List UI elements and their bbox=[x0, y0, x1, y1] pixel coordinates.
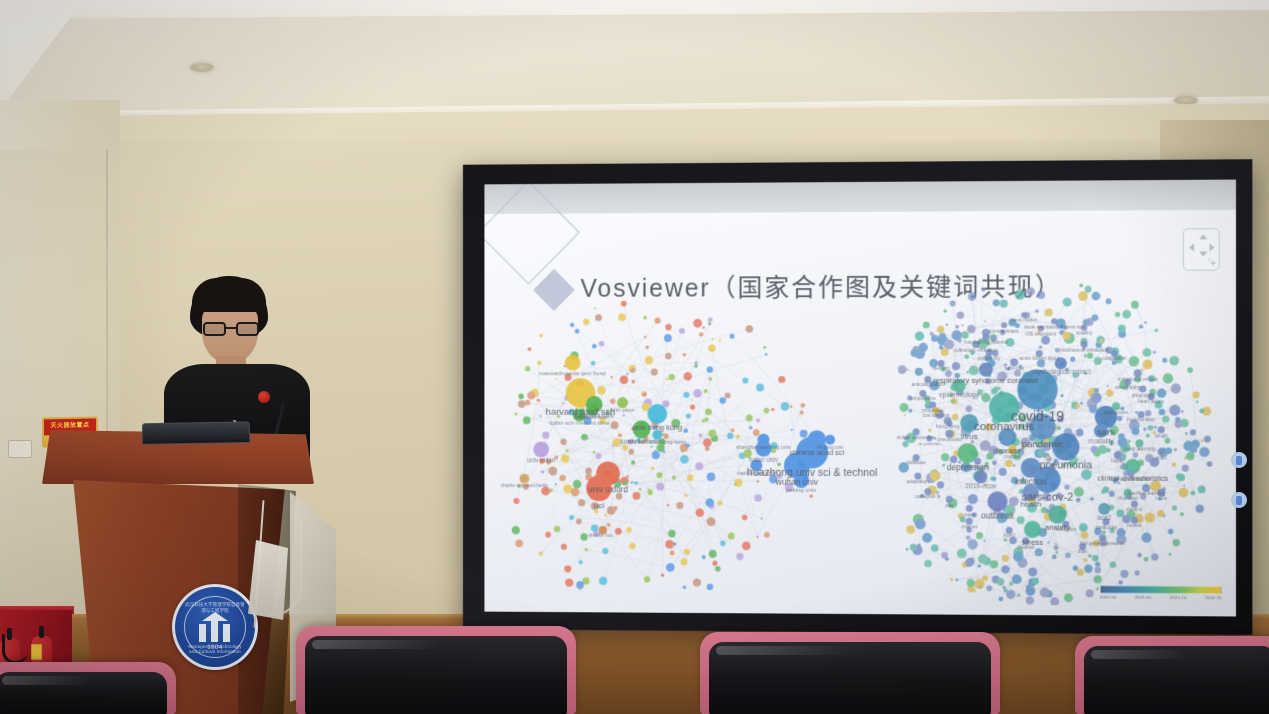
network-node[interactable] bbox=[966, 505, 973, 512]
arrow-left-icon[interactable] bbox=[1189, 243, 1194, 251]
network-node[interactable] bbox=[974, 470, 987, 483]
zoom-in-icon[interactable] bbox=[1208, 259, 1210, 261]
chair-4[interactable] bbox=[1075, 636, 1269, 714]
network-node[interactable] bbox=[1158, 448, 1165, 455]
wall-left-panel bbox=[0, 150, 108, 450]
network-node[interactable] bbox=[1023, 484, 1039, 500]
legend-gradient-bar bbox=[1100, 585, 1222, 594]
network-node[interactable] bbox=[926, 435, 932, 441]
network-node[interactable] bbox=[1114, 452, 1121, 459]
network-node[interactable] bbox=[633, 420, 651, 438]
network-node[interactable] bbox=[946, 496, 953, 503]
network-node[interactable] bbox=[586, 404, 598, 416]
presenter-hair-front bbox=[192, 278, 266, 312]
network-node[interactable] bbox=[1062, 521, 1069, 528]
network-node[interactable] bbox=[1048, 505, 1066, 523]
navigation-pad[interactable] bbox=[1183, 228, 1220, 271]
network-node[interactable] bbox=[1158, 426, 1165, 433]
network-node[interactable] bbox=[647, 404, 667, 424]
network-node[interactable] bbox=[1094, 424, 1108, 438]
country-collaboration-network: harvard med schmassachusetts gen hospcol… bbox=[512, 294, 908, 594]
network-node[interactable] bbox=[750, 459, 762, 471]
network-node[interactable] bbox=[586, 475, 612, 501]
network-node[interactable] bbox=[1124, 379, 1131, 386]
network-node[interactable] bbox=[979, 363, 993, 377]
network-node[interactable] bbox=[1038, 325, 1044, 331]
network-node[interactable] bbox=[1017, 369, 1057, 409]
wall-indicator-button-1[interactable] bbox=[1231, 452, 1247, 468]
network-node[interactable] bbox=[519, 474, 529, 484]
network-node[interactable] bbox=[1010, 358, 1018, 366]
network-node[interactable] bbox=[565, 355, 581, 371]
network-node[interactable] bbox=[1131, 517, 1138, 524]
arrow-right-icon[interactable] bbox=[1209, 243, 1214, 251]
network-node[interactable] bbox=[1051, 318, 1057, 324]
laptop[interactable] bbox=[142, 421, 251, 444]
network-node[interactable] bbox=[825, 435, 835, 445]
presentation-slide: Vosviewer（国家合作图及关键词共现） harvard med schma… bbox=[484, 210, 1236, 617]
network-node[interactable] bbox=[1099, 534, 1106, 541]
network-node[interactable] bbox=[808, 430, 826, 448]
network-node[interactable] bbox=[1124, 489, 1132, 497]
chair-1[interactable] bbox=[0, 662, 176, 714]
glasses-icon bbox=[202, 322, 260, 337]
network-node[interactable] bbox=[945, 430, 953, 438]
university-emblem: 武汉科技大学管理学院信息管理与工程学院 1984 Management Tech… bbox=[172, 584, 258, 670]
network-node[interactable] bbox=[1127, 470, 1134, 477]
network-node[interactable] bbox=[533, 442, 549, 458]
legend-tick: 2020.05 bbox=[1135, 595, 1152, 600]
arrow-down-icon[interactable] bbox=[1199, 251, 1207, 256]
network-node[interactable] bbox=[998, 428, 1016, 446]
network-node[interactable] bbox=[1098, 503, 1110, 515]
legend-tick: 2020.10 bbox=[1170, 595, 1187, 600]
network-node[interactable] bbox=[1024, 521, 1041, 538]
network-node[interactable] bbox=[1139, 385, 1146, 392]
keyword-cooccurrence-network-canvas bbox=[898, 283, 1232, 607]
country-collaboration-network-canvas bbox=[512, 294, 908, 594]
chair-3[interactable] bbox=[700, 632, 1000, 714]
network-node[interactable] bbox=[1021, 458, 1041, 478]
network-node[interactable] bbox=[1052, 433, 1079, 460]
network-node[interactable] bbox=[1111, 350, 1118, 357]
network-node[interactable] bbox=[1157, 489, 1165, 497]
network-node[interactable] bbox=[1021, 312, 1027, 318]
network-node[interactable] bbox=[924, 376, 931, 383]
fire-hose bbox=[2, 634, 28, 664]
network-node[interactable] bbox=[974, 458, 981, 465]
network-node[interactable] bbox=[1081, 325, 1087, 331]
microphone-head bbox=[258, 391, 270, 403]
network-node[interactable] bbox=[1079, 543, 1086, 550]
inspection-tag bbox=[31, 644, 42, 660]
network-node[interactable] bbox=[1001, 322, 1007, 328]
network-node[interactable] bbox=[1142, 484, 1150, 492]
projection-screen: Vosviewer（国家合作图及关键词共现） harvard med schma… bbox=[484, 180, 1236, 617]
network-node[interactable] bbox=[1006, 527, 1013, 534]
network-node[interactable] bbox=[652, 430, 662, 440]
network-node[interactable] bbox=[966, 518, 973, 525]
network-node[interactable] bbox=[1138, 411, 1145, 418]
network-node[interactable] bbox=[944, 417, 952, 425]
network-node[interactable] bbox=[1081, 341, 1088, 348]
network-node[interactable] bbox=[1008, 446, 1017, 455]
network-node[interactable] bbox=[1022, 537, 1029, 544]
network-node[interactable] bbox=[924, 488, 931, 495]
network-node[interactable] bbox=[1148, 393, 1155, 400]
network-node[interactable] bbox=[758, 434, 770, 446]
network-node[interactable] bbox=[913, 428, 920, 435]
arrow-up-icon[interactable] bbox=[1199, 234, 1207, 239]
network-node[interactable] bbox=[1112, 402, 1120, 410]
emblem-text-bottom: Management Technology and Cultural Infor… bbox=[185, 644, 245, 654]
network-node[interactable] bbox=[1036, 350, 1043, 357]
chair-2[interactable] bbox=[296, 626, 576, 714]
network-node[interactable] bbox=[960, 414, 978, 432]
wall-outlet bbox=[8, 440, 32, 458]
network-node[interactable] bbox=[794, 473, 809, 488]
network-node[interactable] bbox=[938, 360, 945, 367]
network-node[interactable] bbox=[573, 409, 586, 422]
network-node[interactable] bbox=[989, 392, 1019, 422]
network-node[interactable] bbox=[1134, 369, 1142, 377]
projection-screen-frame: Vosviewer（国家合作图及关键词共现） harvard med schma… bbox=[463, 159, 1252, 635]
network-node[interactable] bbox=[1029, 413, 1055, 439]
network-node[interactable] bbox=[617, 397, 628, 408]
wall-indicator-button-2[interactable] bbox=[1231, 492, 1247, 508]
fire-sign-title: 灭火器放置点 bbox=[50, 420, 89, 430]
emblem-mark-icon bbox=[199, 612, 231, 642]
network-node[interactable] bbox=[987, 491, 1007, 511]
network-node[interactable] bbox=[982, 334, 989, 341]
ceiling-downlight-1 bbox=[190, 63, 214, 72]
network-node[interactable] bbox=[913, 454, 920, 461]
keyword-cooccurrence-network: covid-19coronaviruspandemicpneumoniasars… bbox=[898, 283, 1232, 607]
network-node[interactable] bbox=[1131, 501, 1138, 508]
conference-room-photo: 灭火器放置点 Location Of Fire Extinguisher ch bbox=[0, 0, 1269, 714]
network-node[interactable] bbox=[1102, 518, 1109, 525]
legend-tick-labels: 2020.002020.052020.102020.15 bbox=[1100, 594, 1222, 600]
network-node[interactable] bbox=[919, 390, 926, 397]
legend-tick: 2020.15 bbox=[1205, 595, 1222, 600]
network-node[interactable] bbox=[933, 407, 940, 414]
network-node[interactable] bbox=[972, 341, 979, 348]
legend-tick: 2020.00 bbox=[1100, 594, 1117, 599]
network-node[interactable] bbox=[953, 379, 966, 392]
network-node[interactable] bbox=[986, 349, 993, 356]
network-node[interactable] bbox=[1055, 357, 1067, 369]
overlay-color-legend: 2020.002020.052020.102020.15 bbox=[1100, 585, 1222, 600]
network-node[interactable] bbox=[914, 473, 921, 480]
network-node[interactable] bbox=[1135, 439, 1143, 447]
network-node[interactable] bbox=[599, 526, 607, 534]
